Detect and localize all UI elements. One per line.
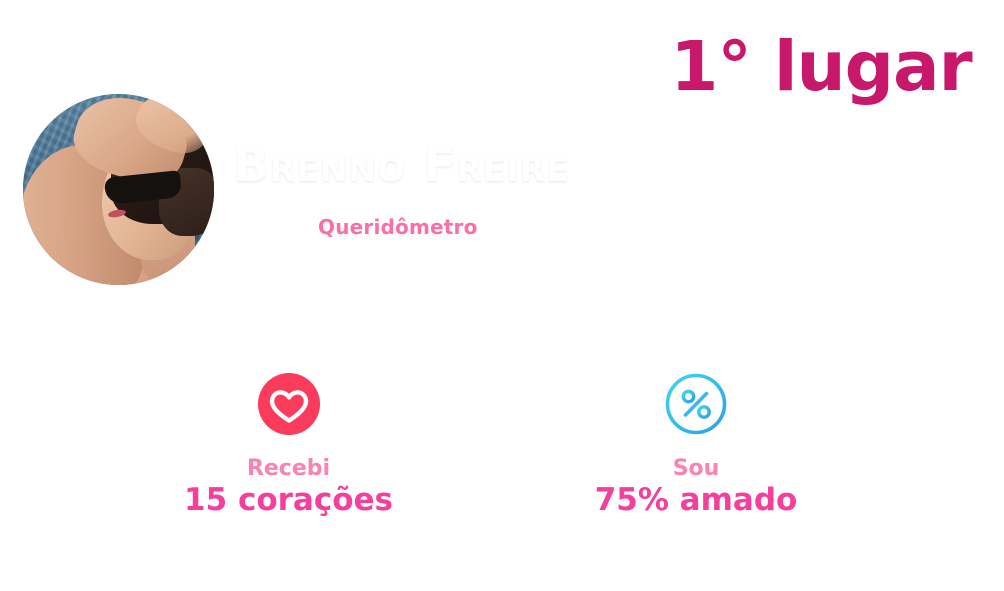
- stat-card-percent-label: Sou: [673, 456, 720, 482]
- stat-card-hearts-label: Recebi: [247, 456, 330, 482]
- stat-card-percent: Sou 75% amado: [542, 350, 850, 536]
- stat-card-hearts: Recebi 15 corações: [135, 350, 442, 536]
- avatar-photo: [23, 94, 214, 285]
- rank-badge-label: 1° lugar: [670, 33, 971, 108]
- subtitle-badge-label: Queridômetro: [318, 217, 478, 237]
- stat-card-percent-value: 75% amado: [595, 483, 798, 517]
- avatar: [18, 89, 219, 290]
- percent-icon: [664, 372, 728, 436]
- rank-badge: 1° lugar: [638, 0, 1004, 140]
- page-title: Brenno Freire: [233, 142, 570, 189]
- heart-icon: [257, 372, 321, 436]
- subtitle-badge: Queridômetro: [304, 211, 492, 244]
- result-card-stage: 1° lugar Brenno Freire Queridômetro: [0, 0, 1004, 591]
- stat-card-hearts-value: 15 corações: [184, 483, 393, 517]
